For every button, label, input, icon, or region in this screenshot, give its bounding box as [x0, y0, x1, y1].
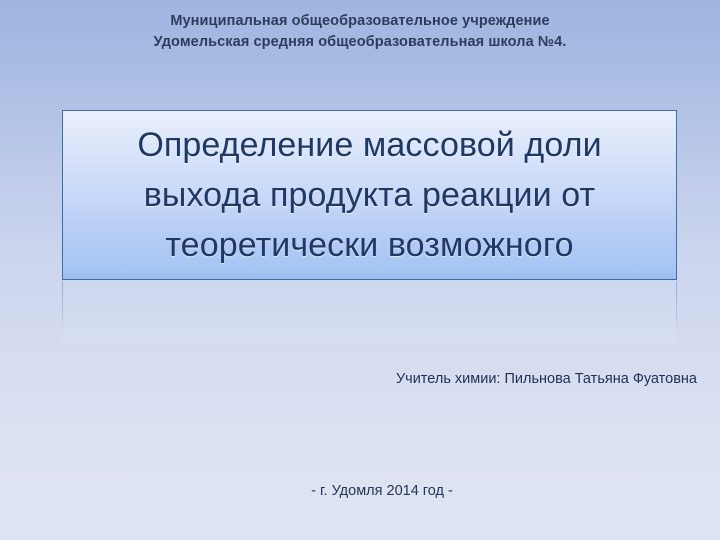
slide-title-box: Определение массовой доли выхода продукт…	[62, 110, 677, 280]
slide-title-line-2: выхода продукта реакции от	[63, 170, 676, 220]
organization-header: Муниципальная общеобразовательное учрежд…	[0, 11, 720, 53]
presentation-slide: Муниципальная общеобразовательное учрежд…	[0, 0, 720, 540]
footer-line: - г. Удомля 2014 год -	[0, 483, 720, 499]
slide-title-line-1: Определение массовой доли	[63, 120, 676, 170]
slide-title-reflection-text: теоретически возможного	[63, 281, 676, 283]
slide-title-reflection-fade	[62, 281, 677, 343]
author-line: Учитель химии: Пильнова Татьяна Фуатовна	[0, 371, 697, 387]
slide-title-reflection: теоретически возможного	[62, 281, 677, 343]
slide-title: Определение массовой доли выхода продукт…	[63, 120, 676, 270]
organization-header-line-1: Муниципальная общеобразовательное учрежд…	[0, 11, 720, 32]
slide-title-reflection-box: теоретически возможного	[62, 281, 677, 343]
slide-title-line-3: теоретически возможного	[63, 220, 676, 270]
organization-header-line-2: Удомельская средняя общеобразовательная …	[0, 32, 720, 53]
